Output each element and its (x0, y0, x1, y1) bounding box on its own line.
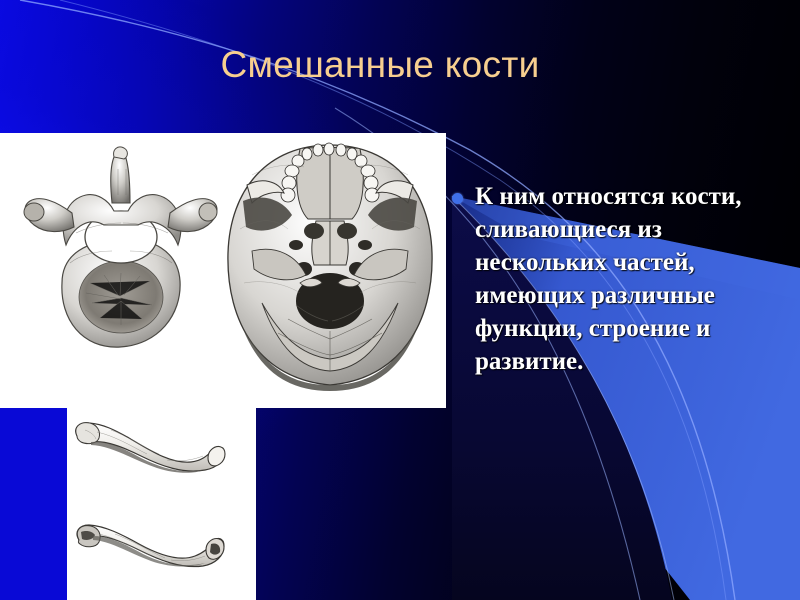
clavicles-figure (67, 408, 256, 600)
bone-illustration-top (0, 133, 446, 408)
skull-base-inferior-view (228, 143, 432, 391)
bullet-text: К ним относятся кости, сливающиеся из не… (475, 180, 792, 378)
left-accent-block (0, 408, 67, 600)
bone-illustration-bottom (67, 408, 256, 600)
slide-title: Смешанные кости (120, 44, 640, 86)
body-bullet-block: К ним относятся кости, сливающиеся из не… (452, 180, 792, 378)
slide-canvas: Смешанные кости (0, 0, 800, 600)
vertebra-and-skull-base-figure (0, 133, 446, 408)
bullet-dot-icon (452, 193, 463, 204)
